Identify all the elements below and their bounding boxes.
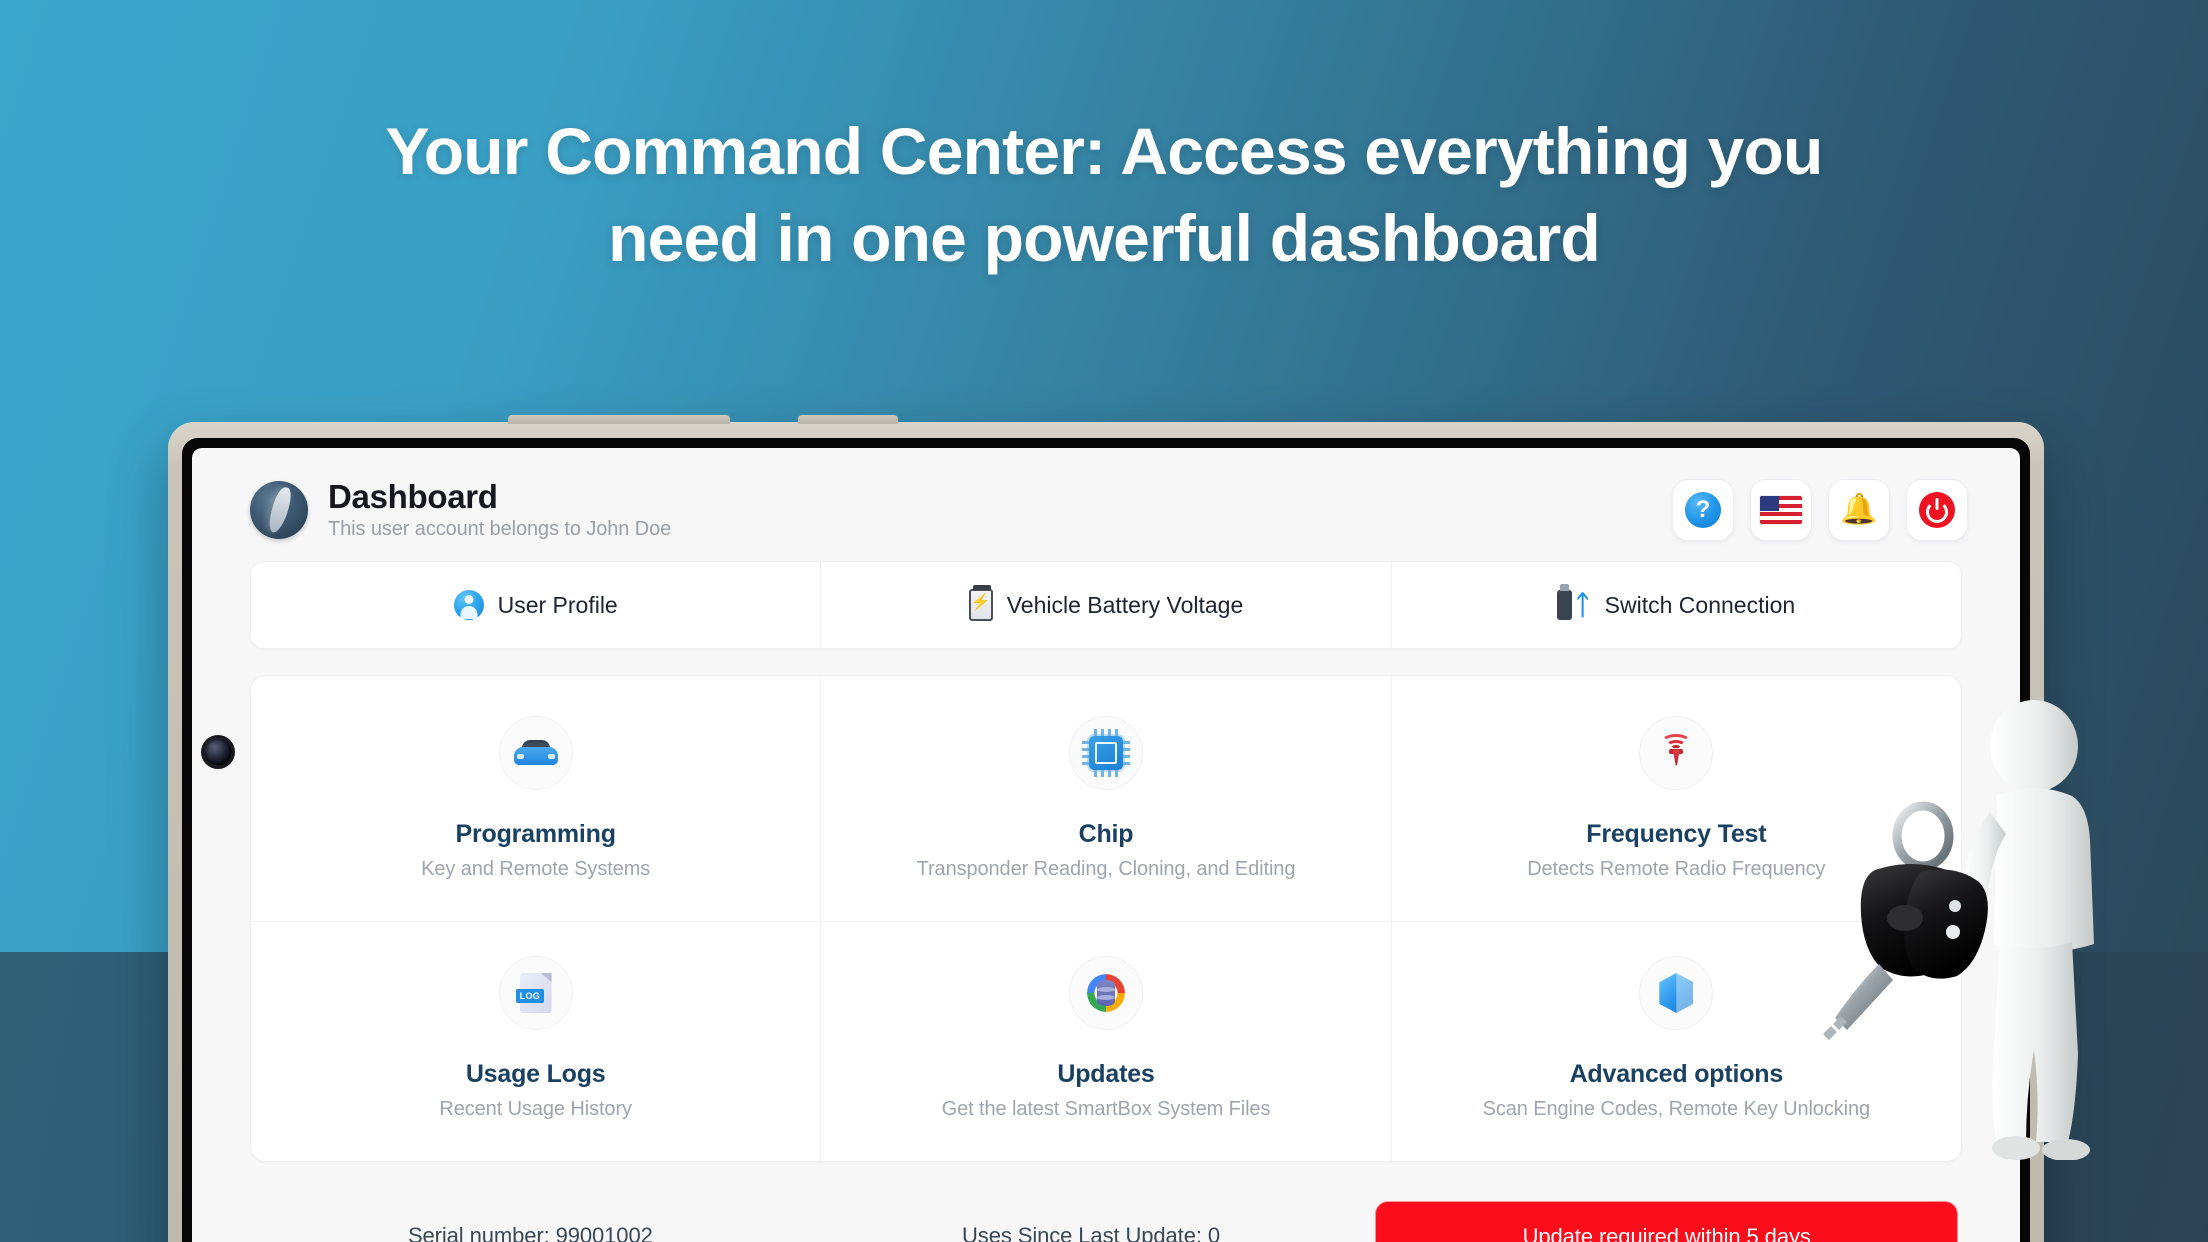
tile-subtitle: Get the latest SmartBox System Files	[942, 1098, 1271, 1121]
tile-usage-logs[interactable]: LOG Usage Logs Recent Usage History	[251, 922, 820, 1161]
feature-grid-row: LOG Usage Logs Recent Usage History	[251, 921, 1961, 1161]
help-button[interactable]: ?	[1672, 479, 1734, 541]
power-icon	[1919, 492, 1955, 528]
blue-car-icon	[514, 738, 558, 768]
radio-signal-icon	[1658, 734, 1694, 772]
tile-icon-wrap	[1069, 956, 1143, 1030]
tile-icon-wrap	[1639, 716, 1713, 790]
language-button[interactable]	[1750, 479, 1812, 541]
usb-icon	[1557, 590, 1572, 620]
usb-bluetooth-icon: ᛏ	[1557, 590, 1590, 620]
tile-title: Usage Logs	[466, 1060, 606, 1089]
tile-advanced-options[interactable]: Advanced options Scan Engine Codes, Remo…	[1391, 922, 1961, 1161]
cpu-chip-icon	[1089, 736, 1123, 770]
status-item-label: User Profile	[498, 592, 618, 619]
tablet-device: Dashboard This user account belongs to J…	[168, 422, 2044, 1242]
tile-title: Advanced options	[1570, 1060, 1784, 1089]
status-item-label: Vehicle Battery Voltage	[1007, 592, 1244, 619]
tile-title: Frequency Test	[1586, 820, 1766, 849]
notifications-button[interactable]: 🔔	[1828, 479, 1890, 541]
tile-frequency-test[interactable]: Frequency Test Detects Remote Radio Freq…	[1391, 676, 1961, 921]
app-subtitle: This user account belongs to John Doe	[328, 518, 671, 541]
update-required-button[interactable]: Update required within 5 days	[1375, 1201, 1958, 1242]
headline-line-2: need in one powerful dashboard	[0, 195, 2208, 282]
log-document-icon: LOG	[520, 973, 552, 1013]
brand-text: Dashboard This user account belongs to J…	[328, 478, 671, 541]
tile-subtitle: Transponder Reading, Cloning, and Editin…	[917, 858, 1296, 881]
smartbox-logo-icon	[250, 481, 308, 539]
page-title: Your Command Center: Access everything y…	[0, 108, 2208, 282]
question-mark-icon: ?	[1685, 492, 1721, 528]
tile-subtitle: Key and Remote Systems	[421, 858, 650, 881]
status-item-switch-connection[interactable]: ᛏ Switch Connection	[1391, 562, 1961, 648]
blue-gem-icon	[1659, 973, 1693, 1013]
power-button[interactable]	[1906, 479, 1968, 541]
tile-updates[interactable]: Updates Get the latest SmartBox System F…	[820, 922, 1390, 1161]
front-camera-icon	[204, 738, 232, 766]
tablet-screen: Dashboard This user account belongs to J…	[192, 448, 2020, 1242]
header-actions: ? 🔔	[1672, 479, 1968, 541]
headline-line-1: Your Command Center: Access everything y…	[385, 114, 1822, 188]
tile-title: Updates	[1057, 1060, 1154, 1089]
tile-icon-wrap: LOG	[499, 956, 573, 1030]
app-header: Dashboard This user account belongs to J…	[192, 448, 2020, 561]
status-item-label: Switch Connection	[1605, 592, 1796, 619]
tile-chip[interactable]: Chip Transponder Reading, Cloning, and E…	[820, 676, 1390, 921]
tile-subtitle: Detects Remote Radio Frequency	[1527, 858, 1825, 881]
status-bar: User Profile Vehicle Battery Voltage ᛏ S…	[250, 561, 1962, 649]
status-item-user-profile[interactable]: User Profile	[251, 562, 820, 648]
feature-grid: Programming Key and Remote Systems Chip	[250, 675, 1962, 1162]
status-item-battery-voltage[interactable]: Vehicle Battery Voltage	[820, 562, 1390, 648]
app-footer: Serial number: 99001002 Uses Since Last …	[192, 1190, 2020, 1242]
tile-icon-wrap	[1069, 716, 1143, 790]
app-title: Dashboard	[328, 478, 671, 516]
user-avatar-icon	[454, 590, 484, 620]
tile-subtitle: Scan Engine Codes, Remote Key Unlocking	[1483, 1098, 1870, 1121]
serial-number: Serial number: 99001002	[250, 1223, 811, 1242]
database-sync-icon	[1087, 974, 1125, 1012]
us-flag-icon	[1760, 496, 1802, 524]
tablet-button-top-right	[798, 415, 898, 424]
tile-title: Programming	[456, 820, 616, 849]
promo-stage: Your Command Center: Access everything y…	[0, 0, 2208, 1242]
tile-programming[interactable]: Programming Key and Remote Systems	[251, 676, 820, 921]
brand: Dashboard This user account belongs to J…	[250, 478, 671, 541]
car-battery-icon	[969, 589, 993, 621]
bell-icon: 🔔	[1840, 495, 1877, 525]
tile-icon-wrap	[499, 716, 573, 790]
bluetooth-icon: ᛏ	[1574, 592, 1590, 619]
tile-subtitle: Recent Usage History	[439, 1098, 632, 1121]
feature-grid-row: Programming Key and Remote Systems Chip	[251, 676, 1961, 921]
tablet-button-top-left	[508, 415, 730, 424]
uses-since-last-update: Uses Since Last Update: 0	[811, 1223, 1372, 1242]
tile-icon-wrap	[1639, 956, 1713, 1030]
tablet-bezel: Dashboard This user account belongs to J…	[182, 438, 2030, 1242]
tile-title: Chip	[1079, 820, 1134, 849]
